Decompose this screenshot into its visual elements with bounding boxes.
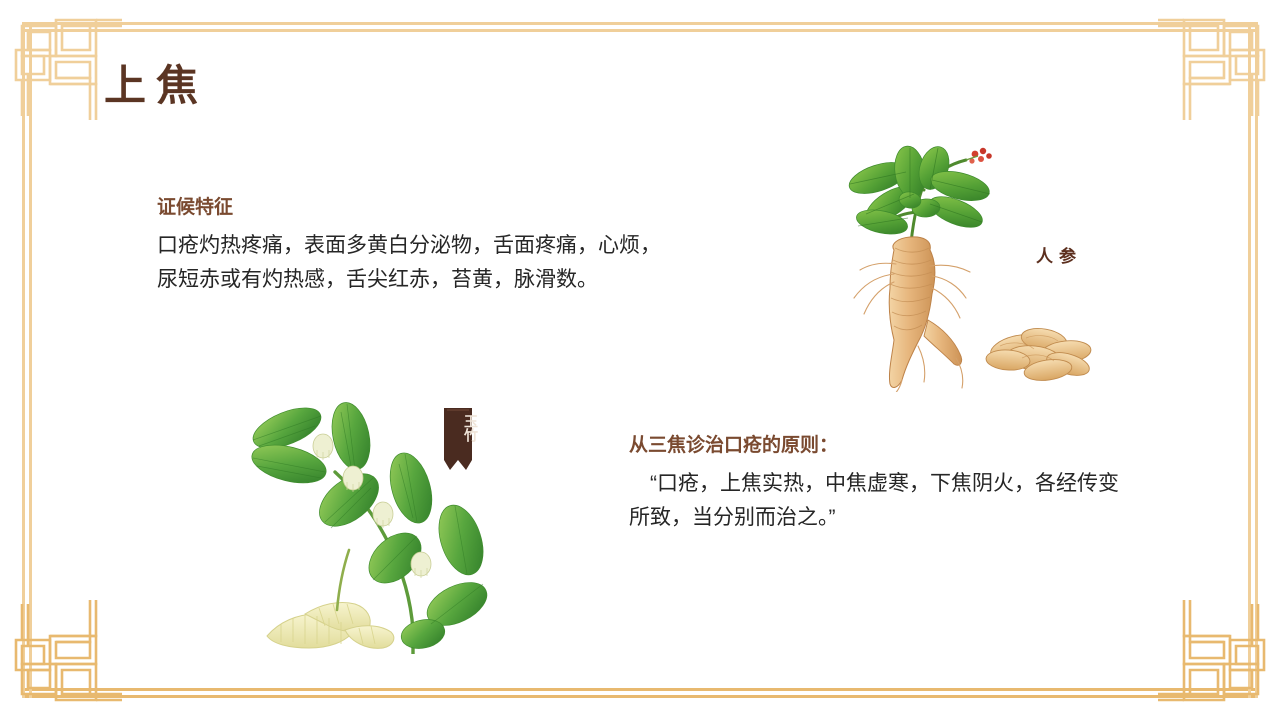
corner-ornament-bottom-left	[6, 594, 126, 714]
principle-body: “口疮，上焦实热，中焦虚寒，下焦阴火，各经传变 所致，当分别而治之。”	[629, 467, 1229, 535]
polygonatum-illustration	[245, 392, 525, 654]
ginseng-label: 人参	[1036, 242, 1082, 267]
principle-block: 从三焦诊治口疮的原则： “口疮，上焦实热，中焦虚寒，下焦阴火，各经传变 所致，当…	[629, 432, 1229, 535]
frame-line-top-inner	[22, 29, 1258, 32]
yuzhu-label-tag: 玉竹	[438, 408, 478, 474]
symptoms-block: 证候特征 口疮灼热疼痛，表面多黄白分泌物，舌面疼痛，心烦， 尿短赤或有灼热感，舌…	[157, 194, 777, 297]
frame-line-bottom-outer	[22, 695, 1258, 698]
slide-canvas: 上焦 证候特征 口疮灼热疼痛，表面多黄白分泌物，舌面疼痛，心烦， 尿短赤或有灼热…	[0, 0, 1280, 720]
ginseng-illustration	[838, 142, 1108, 392]
symptoms-body: 口疮灼热疼痛，表面多黄白分泌物，舌面疼痛，心烦， 尿短赤或有灼热感，舌尖红赤，苔…	[157, 229, 777, 297]
yuzhu-tag-text: 玉竹	[438, 414, 478, 442]
corner-ornament-top-right	[1154, 6, 1274, 126]
principle-heading: 从三焦诊治口疮的原则：	[629, 432, 1229, 461]
page-title: 上焦	[104, 52, 208, 113]
ginseng-drawing	[838, 142, 1108, 392]
polygonatum-drawing	[245, 392, 525, 654]
frame-line-bottom-inner	[22, 688, 1258, 691]
corner-ornament-bottom-right	[1154, 594, 1274, 714]
symptoms-heading: 证候特征	[157, 194, 777, 223]
frame-line-top-outer	[22, 22, 1258, 25]
